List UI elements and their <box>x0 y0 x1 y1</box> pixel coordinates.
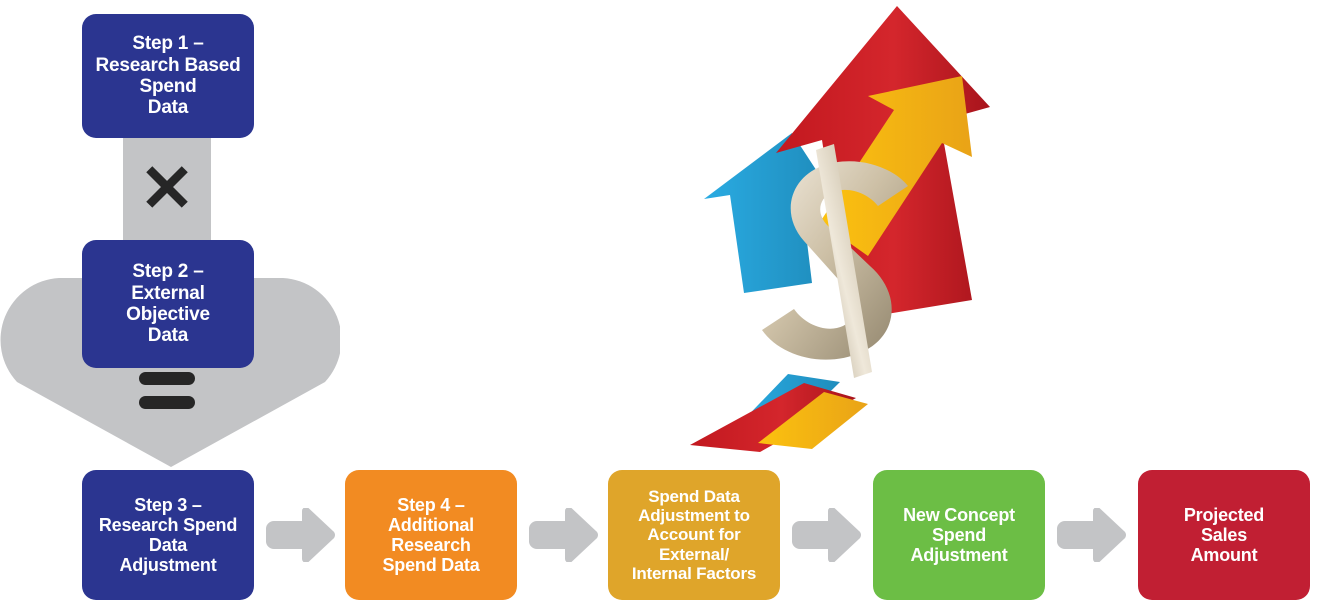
node-step-3-label: Step 3 – Research Spend Data Adjustment <box>88 495 248 576</box>
connector-arrow-concept-to-sales <box>1055 508 1127 562</box>
node-step-3[interactable]: Step 3 – Research Spend Data Adjustment <box>82 470 254 600</box>
node-projected-sales-amount[interactable]: Projected Sales Amount <box>1138 470 1310 600</box>
node-step-2[interactable]: Step 2 – External Objective Data <box>82 240 254 368</box>
node-projected-sales-amount-label: Projected Sales Amount <box>1144 505 1304 565</box>
node-new-concept-spend-adjustment[interactable]: New Concept Spend Adjustment <box>873 470 1045 600</box>
connector-arrow-adjustment-to-concept <box>790 508 862 562</box>
dollar-sign-with-growth-arrows <box>672 0 1002 460</box>
node-step-4-label: Step 4 – Additional Research Spend Data <box>351 495 511 576</box>
connector-arrow-step4-to-adjustment <box>527 508 599 562</box>
arrow-tails <box>690 374 868 452</box>
node-step-1-label: Step 1 – Research Based Spend Data <box>88 33 248 118</box>
node-step-2-label: Step 2 – External Objective Data <box>88 261 248 346</box>
multiply-symbol: ✕ <box>123 152 211 224</box>
equals-bar-top <box>139 372 195 385</box>
equals-bar-bottom <box>139 396 195 409</box>
node-spend-data-adjustment-label: Spend Data Adjustment to Account for Ext… <box>614 487 774 582</box>
node-spend-data-adjustment[interactable]: Spend Data Adjustment to Account for Ext… <box>608 470 780 600</box>
equals-symbol <box>123 372 211 434</box>
node-step-1[interactable]: Step 1 – Research Based Spend Data <box>82 14 254 138</box>
diagram-canvas: ✕ <box>0 0 1329 616</box>
node-step-4[interactable]: Step 4 – Additional Research Spend Data <box>345 470 517 600</box>
connector-arrow-step3-to-step4 <box>264 508 336 562</box>
node-new-concept-spend-adjustment-label: New Concept Spend Adjustment <box>879 505 1039 565</box>
